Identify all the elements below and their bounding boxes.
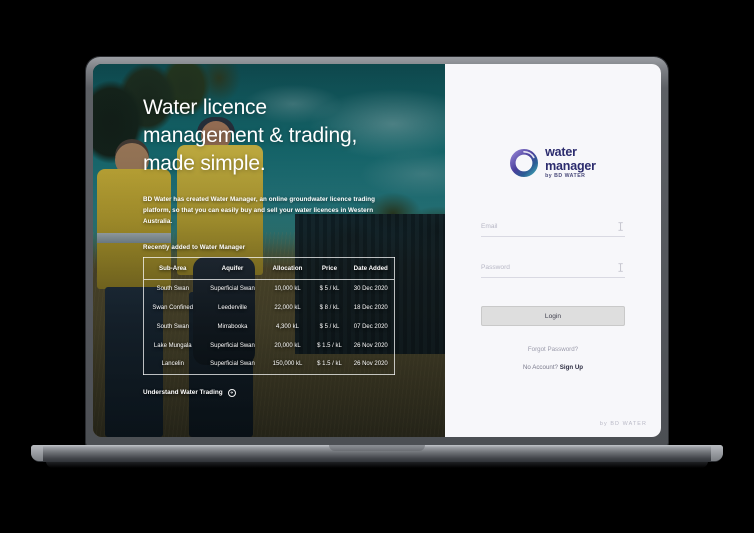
table-row[interactable]: Lancelin Superficial Swan 150,000 kL $ 1… xyxy=(144,355,395,374)
laptop-base-left-edge xyxy=(31,445,43,461)
hero-title: Water licence management & trading, made… xyxy=(143,94,423,178)
licence-table-head: Sub-Area Aquifer Allocation Price Date A… xyxy=(144,257,395,279)
cell-aquifer: Superficial Swan xyxy=(202,336,264,355)
cell-price: $ 1.5 / kL xyxy=(312,355,348,374)
cell-date-added: 30 Dec 2020 xyxy=(348,279,395,298)
table-row[interactable]: Swan Confined Leederville 22,000 kL $ 8 … xyxy=(144,299,395,318)
cell-aquifer: Leederville xyxy=(202,299,264,318)
laptop-base-right-edge xyxy=(711,445,723,461)
cell-allocation: 4,300 kL xyxy=(264,317,312,336)
cell-aquifer: Mirrabooka xyxy=(202,317,264,336)
hero-title-line-1: Water licence xyxy=(143,96,267,119)
col-header-aquifer: Aquifer xyxy=(202,257,264,279)
col-header-date-added: Date Added xyxy=(348,257,395,279)
cursor-icon xyxy=(617,263,625,272)
cell-price: $ 5 / kL xyxy=(312,279,348,298)
email-input[interactable] xyxy=(481,221,617,232)
brand-wordmark: water manager by BD WATER xyxy=(545,146,596,179)
understand-water-trading-label: Understand Water Trading xyxy=(143,389,223,396)
cell-sub-area: South Swan xyxy=(144,317,202,336)
brand-line-manager: manager xyxy=(545,160,596,173)
recently-added-label: Recently added to Water Manager xyxy=(143,244,423,251)
brand-line-by: by BD WATER xyxy=(545,174,596,179)
cell-allocation: 22,000 kL xyxy=(264,299,312,318)
cell-sub-area: Swan Confined xyxy=(144,299,202,318)
cell-aquifer: Superficial Swan xyxy=(202,355,264,374)
password-input[interactable] xyxy=(481,262,617,273)
no-account-label: No Account? xyxy=(523,364,560,371)
licence-table-body: South Swan Superficial Swan 10,000 kL $ … xyxy=(144,279,395,374)
hero-title-line-2: management & trading, xyxy=(143,124,357,147)
email-field[interactable] xyxy=(481,221,625,237)
laptop-base xyxy=(31,445,723,462)
sign-up-link[interactable]: Sign Up xyxy=(560,364,583,371)
screenshot-canvas: Water licence management & trading, made… xyxy=(0,0,754,533)
hero-content: Water licence management & trading, made… xyxy=(93,64,445,437)
cell-date-added: 26 Nov 2020 xyxy=(348,336,395,355)
cell-allocation: 10,000 kL xyxy=(264,279,312,298)
table-row[interactable]: Lake Mungala Superficial Swan 20,000 kL … xyxy=(144,336,395,355)
forgot-password-link[interactable]: Forgot Password? xyxy=(528,346,578,353)
laptop-screen: Water licence management & trading, made… xyxy=(93,64,661,437)
table-row[interactable]: South Swan Superficial Swan 10,000 kL $ … xyxy=(144,279,395,298)
laptop-device: Water licence management & trading, made… xyxy=(86,57,668,447)
col-header-sub-area: Sub-Area xyxy=(144,257,202,279)
cell-sub-area: South Swan xyxy=(144,279,202,298)
laptop-base-shadow xyxy=(46,461,708,468)
cell-allocation: 20,000 kL xyxy=(264,336,312,355)
cursor-icon xyxy=(617,222,625,231)
cell-price: $ 8 / kL xyxy=(312,299,348,318)
water-ring-logo-icon xyxy=(510,149,538,177)
brand-line-water: water xyxy=(545,146,596,159)
cell-allocation: 150,000 kL xyxy=(264,355,312,374)
hero-title-line-3: made simple. xyxy=(143,152,265,175)
licence-table: Sub-Area Aquifer Allocation Price Date A… xyxy=(143,257,395,375)
col-header-price: Price xyxy=(312,257,348,279)
panel-footer-credit: by BD WATER xyxy=(600,421,647,427)
brand-lockup: water manager by BD WATER xyxy=(510,146,596,179)
table-row[interactable]: South Swan Mirrabooka 4,300 kL $ 5 / kL … xyxy=(144,317,395,336)
laptop-lid: Water licence management & trading, made… xyxy=(86,57,668,447)
arrow-circle-icon xyxy=(228,389,236,397)
table-header-row: Sub-Area Aquifer Allocation Price Date A… xyxy=(144,257,395,279)
col-header-allocation: Allocation xyxy=(264,257,312,279)
cell-price: $ 1.5 / kL xyxy=(312,336,348,355)
laptop-base-notch xyxy=(329,445,425,451)
cell-date-added: 26 Nov 2020 xyxy=(348,355,395,374)
understand-water-trading-link[interactable]: Understand Water Trading xyxy=(143,389,236,397)
cell-sub-area: Lancelin xyxy=(144,355,202,374)
cell-date-added: 18 Dec 2020 xyxy=(348,299,395,318)
cell-sub-area: Lake Mungala xyxy=(144,336,202,355)
no-account-row: No Account? Sign Up xyxy=(523,364,583,371)
hero-subtitle: BD Water has created Water Manager, an o… xyxy=(143,194,401,227)
hero-panel: Water licence management & trading, made… xyxy=(93,64,445,437)
login-button[interactable]: Login xyxy=(481,306,625,326)
cell-aquifer: Superficial Swan xyxy=(202,279,264,298)
cell-date-added: 07 Dec 2020 xyxy=(348,317,395,336)
password-field[interactable] xyxy=(481,262,625,278)
login-panel: water manager by BD WATER xyxy=(445,64,661,437)
login-form: Login xyxy=(481,221,625,326)
cell-price: $ 5 / kL xyxy=(312,317,348,336)
